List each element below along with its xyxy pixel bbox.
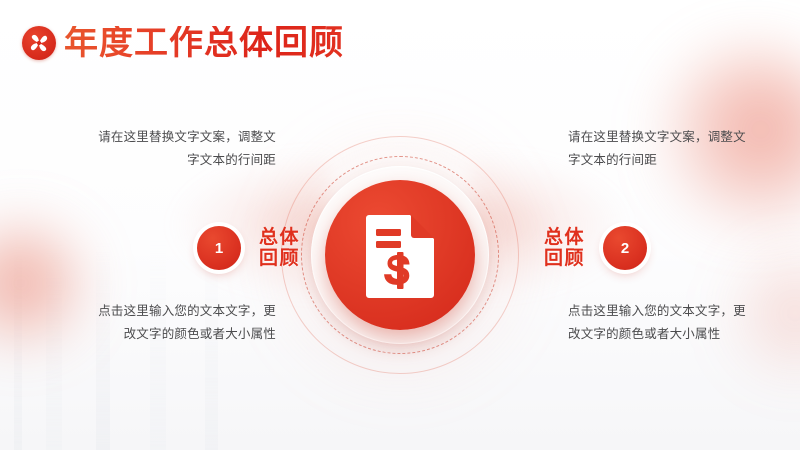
invoice-document-dollar-icon xyxy=(362,212,438,298)
slide-canvas: 年度工作总体回顾 请在这里替换文字文案，调整文字文本的行间距 1 xyxy=(0,0,800,450)
item-1-number-badge[interactable]: 1 xyxy=(197,226,241,270)
item-1-bottom-text: 点击这里输入您的文本文字，更改文字的颜色或者大小属性 xyxy=(86,300,276,346)
content-column-right: 请在这里替换文字文案，调整文字文本的行间距 2 总体 回顾 点击这里输入您的文本… xyxy=(560,0,800,450)
item-2-label: 总体 回顾 xyxy=(544,227,585,270)
item-2-number-badge[interactable]: 2 xyxy=(603,226,647,270)
center-emblem xyxy=(275,130,525,380)
item-1-badge-row[interactable]: 1 总体 回顾 xyxy=(197,226,300,270)
item-1-label: 总体 回顾 xyxy=(259,227,300,270)
item-2-label-line1: 总体 xyxy=(544,227,585,248)
item-2-badge-row[interactable]: 2 总体 回顾 xyxy=(544,226,647,270)
item-2-top-text: 请在这里替换文字文案，调整文字文本的行间距 xyxy=(568,126,758,172)
item-1-label-line2: 回顾 xyxy=(259,248,300,269)
item-2-label-line2: 回顾 xyxy=(544,248,585,269)
item-1-top-text: 请在这里替换文字文案，调整文字文本的行间距 xyxy=(86,126,276,172)
item-1-label-line1: 总体 xyxy=(259,227,300,248)
item-2-bottom-text: 点击这里输入您的文本文字，更改文字的颜色或者大小属性 xyxy=(568,300,758,346)
content-column-left: 请在这里替换文字文案，调整文字文本的行间距 1 总体 回顾 点击这里输入您的文本… xyxy=(48,0,308,450)
